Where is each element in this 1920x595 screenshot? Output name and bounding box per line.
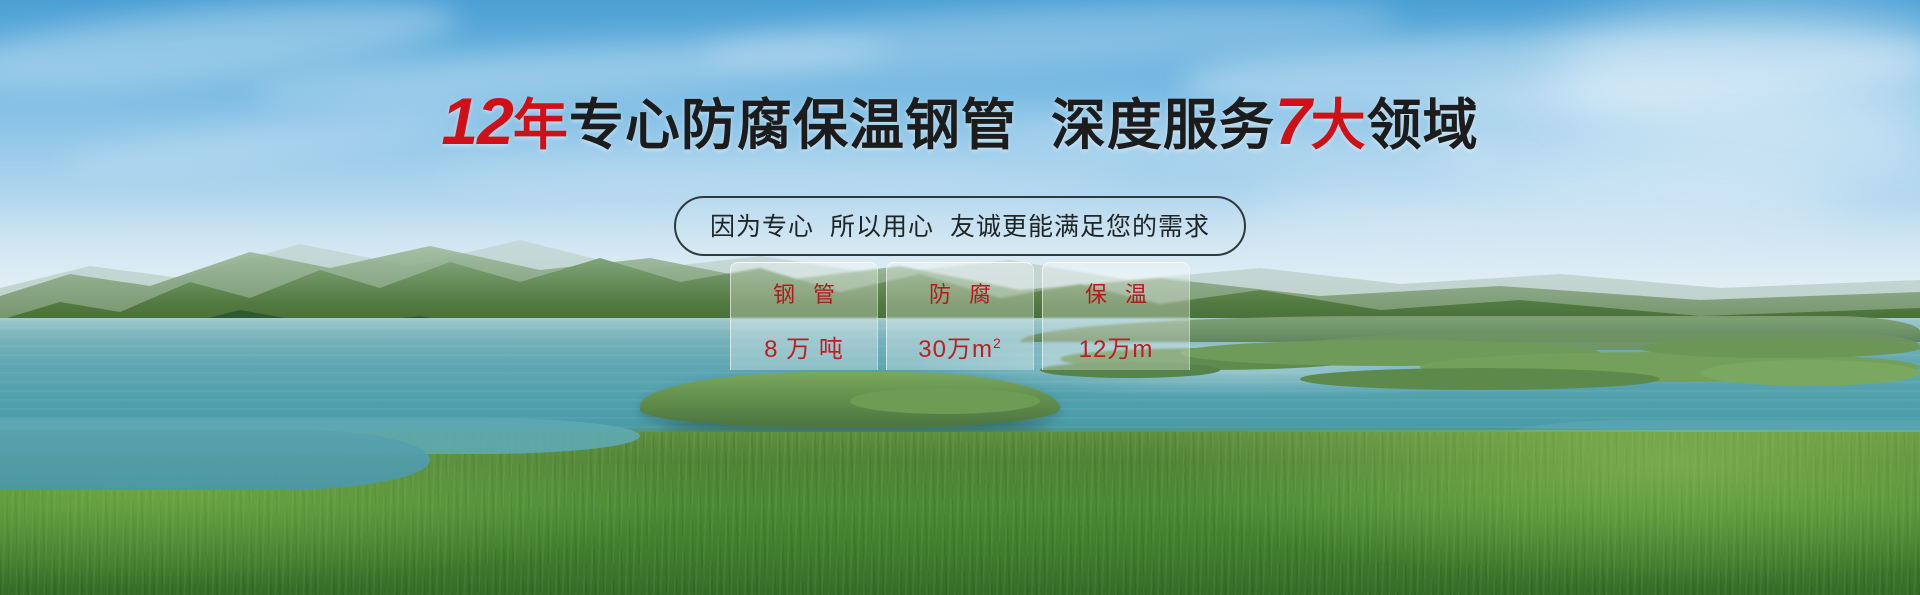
subtitle-part-1: 因为专心 [710,213,814,241]
grass-highlight-right [1100,430,1920,595]
stat-card-value: 8 万 吨 [739,329,869,364]
stat-card-group: 钢 管 8 万 吨 防 腐 30万m2 保 温 12万m [0,262,1920,370]
stat-card-insulation[interactable]: 保 温 12万m [1042,262,1190,370]
stat-card-title: 防 腐 [895,277,1025,309]
grass-island-secondary [850,388,1040,414]
subtitle-wrapper: 因为专心所以用心友诚更能满足您的需求 [0,196,1920,256]
stat-card-value: 12万m [1051,329,1181,364]
headline-fields-tail: 领域 [1367,94,1479,156]
stat-card-title: 钢 管 [739,277,869,309]
stat-value-text: 8 万 吨 [764,336,844,363]
subtitle-part-2: 所以用心 [830,213,934,241]
stat-card-steel-pipe[interactable]: 钢 管 8 万 吨 [730,262,878,370]
headline-fields-number: 7 [1275,84,1311,158]
headline-fields-unit: 大 [1311,94,1367,156]
headline-years-number: 12 [441,84,512,158]
water-inlet [0,430,430,490]
subtitle-pill: 因为专心所以用心友诚更能满足您的需求 [674,196,1246,256]
headline-service-text: 深度服务 [1051,94,1275,156]
stat-card-anticorrosion[interactable]: 防 腐 30万m2 [886,262,1034,370]
stat-value-text: 12万m [1079,336,1154,363]
stat-card-value: 30万m2 [895,329,1025,364]
stat-value-superscript: 2 [993,335,1002,351]
hero-banner: 12年专心防腐保温钢管深度服务7大领域 因为专心所以用心友诚更能满足您的需求 钢… [0,0,1920,595]
subtitle-part-3: 友诚更能满足您的需求 [950,213,1210,241]
stat-value-text: 30万m [918,336,993,363]
headline-main-text: 专心防腐保温钢管 [569,94,1017,156]
marsh-patch [1300,368,1660,390]
headline-years-unit: 年 [513,94,569,156]
page-title: 12年专心防腐保温钢管深度服务7大领域 [0,88,1920,154]
stat-card-title: 保 温 [1051,277,1181,309]
